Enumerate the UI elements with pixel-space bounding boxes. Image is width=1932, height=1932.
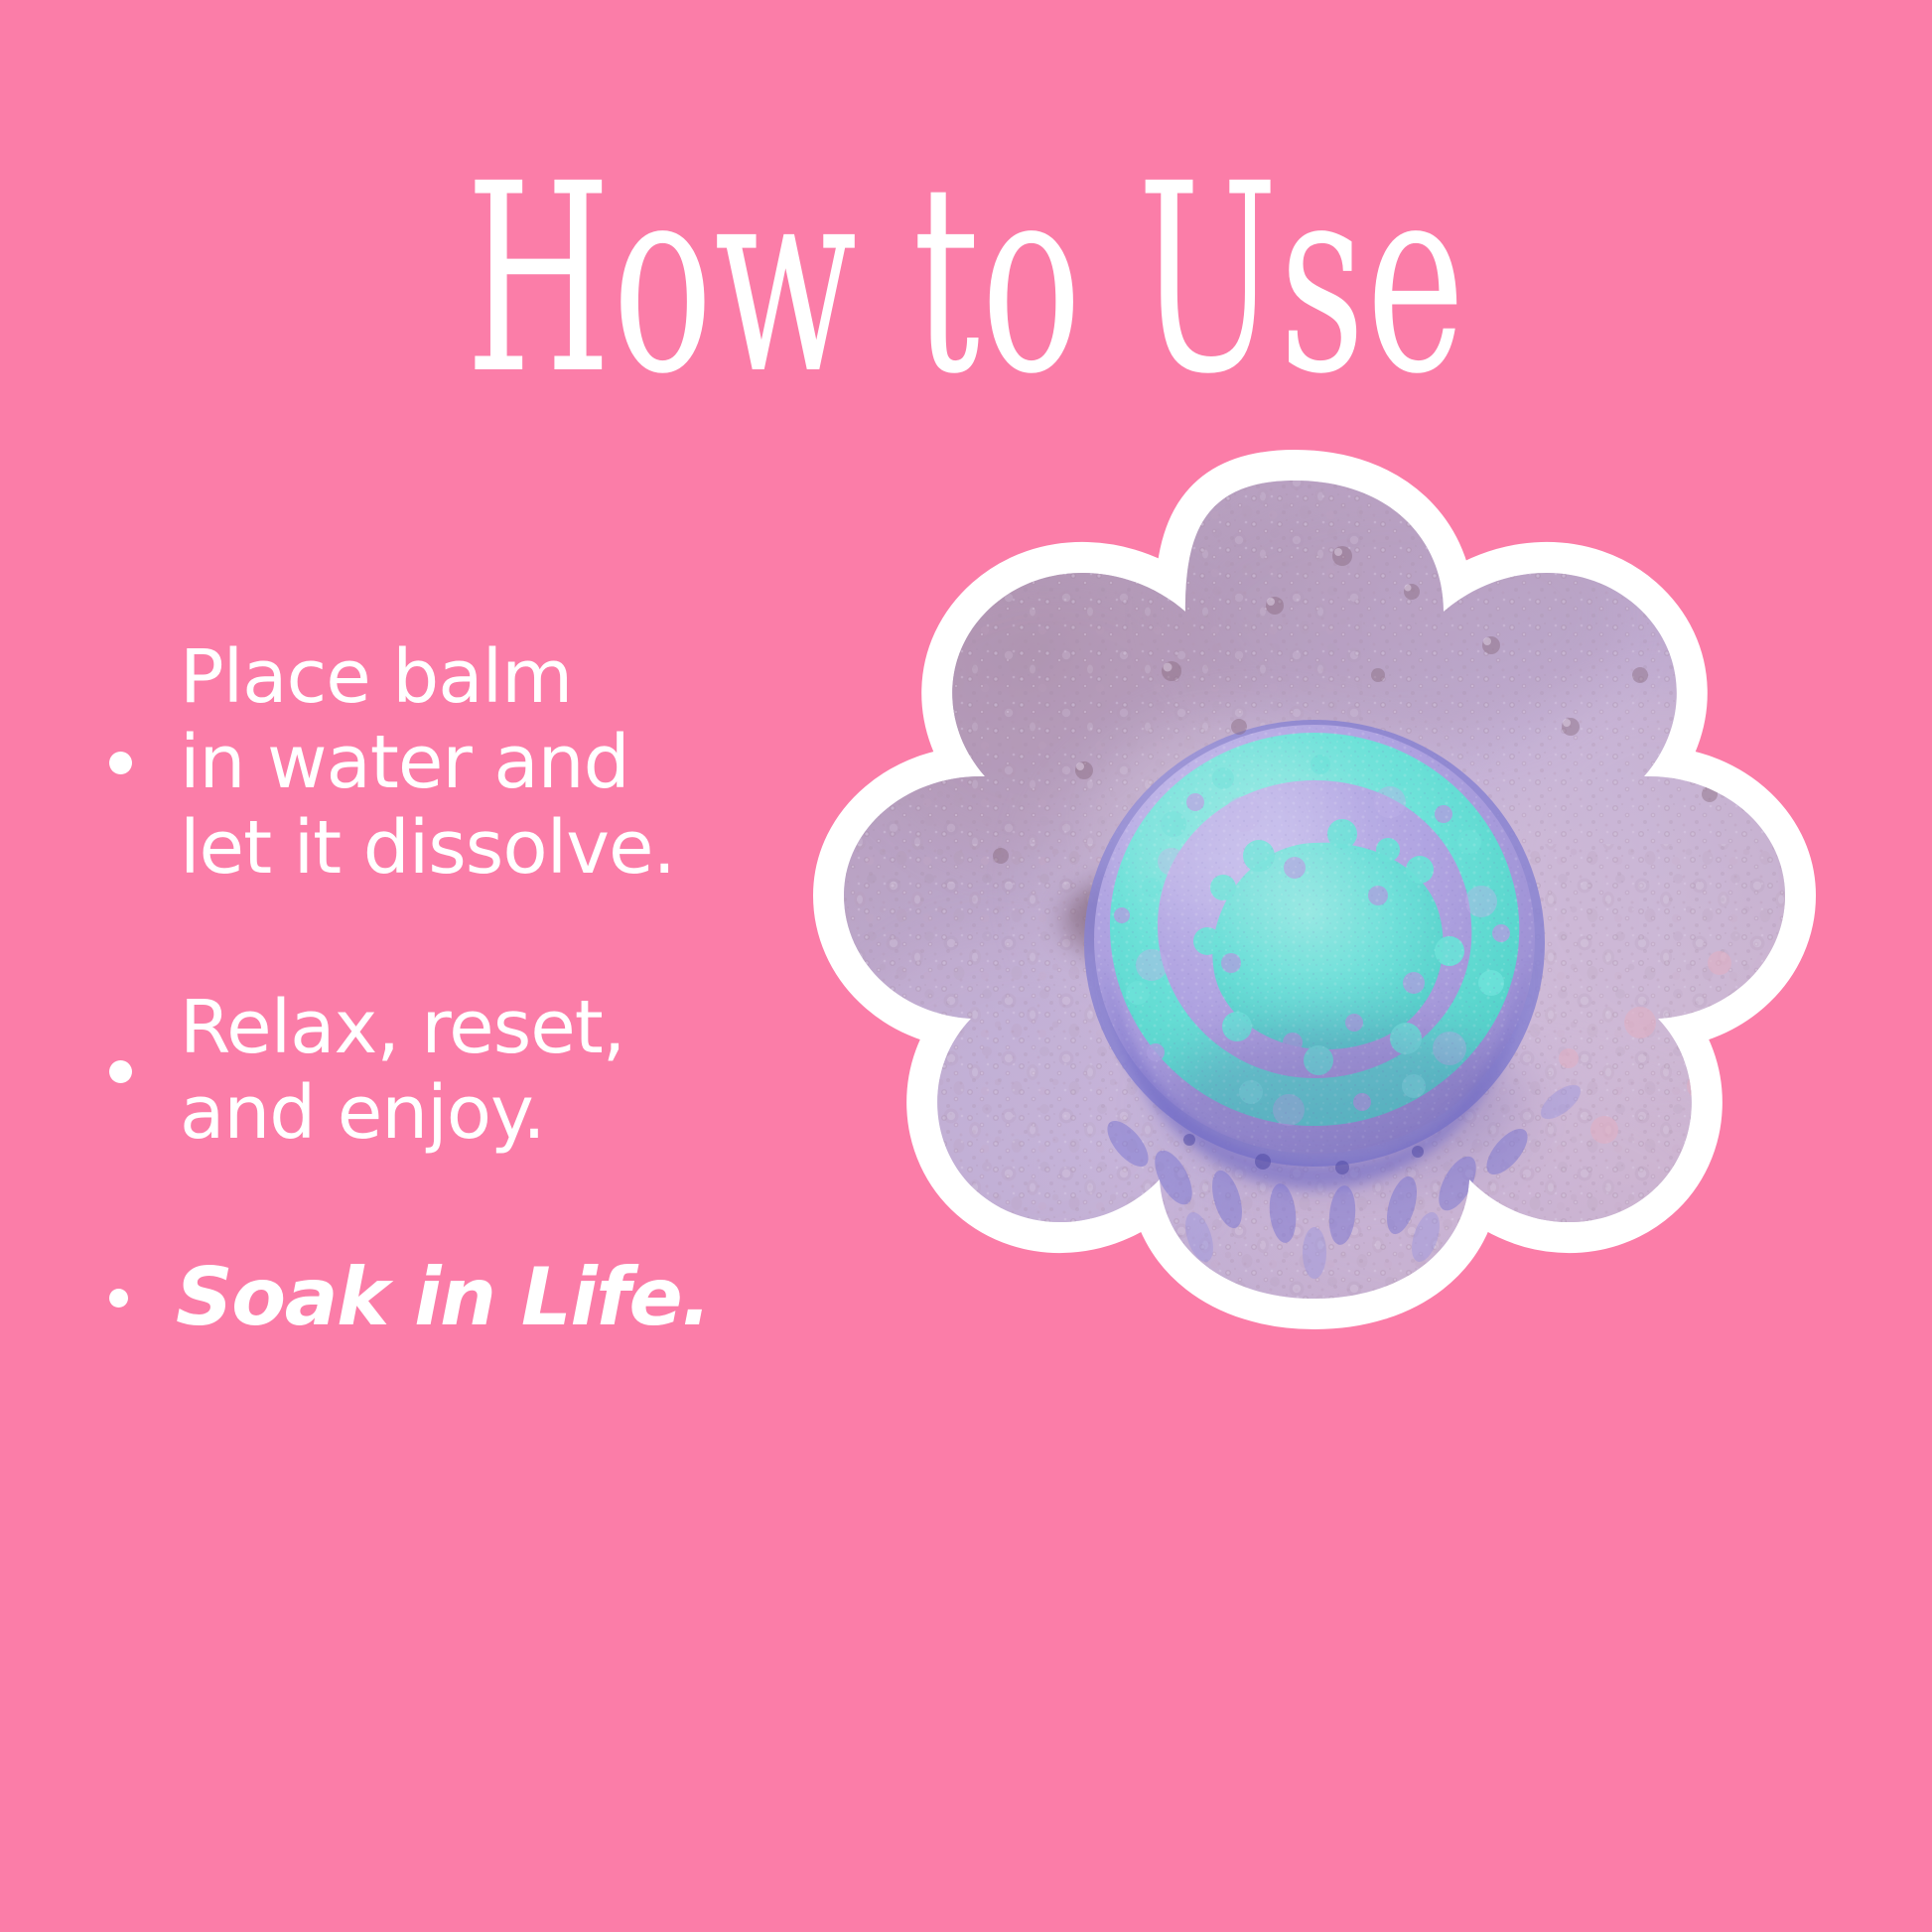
list-item-label: Soak in Life. — [176, 1252, 710, 1344]
bullet-dot-icon — [109, 1060, 132, 1083]
bullet-dot-icon — [109, 1289, 128, 1308]
list-item-label: Place balm in water and let it dissolve. — [180, 635, 675, 891]
flower-shape-graphic — [707, 467, 1883, 1291]
page-title: How to Use — [466, 149, 1466, 409]
bullet-dot-icon — [109, 752, 132, 774]
poster-canvas: How to Use Place balm in water and let i… — [0, 0, 1932, 1932]
list-item-label: Relax, reset, and enjoy. — [180, 986, 624, 1157]
page-title-container: How to Use — [0, 149, 1932, 362]
flower-product-image — [707, 467, 1883, 1291]
